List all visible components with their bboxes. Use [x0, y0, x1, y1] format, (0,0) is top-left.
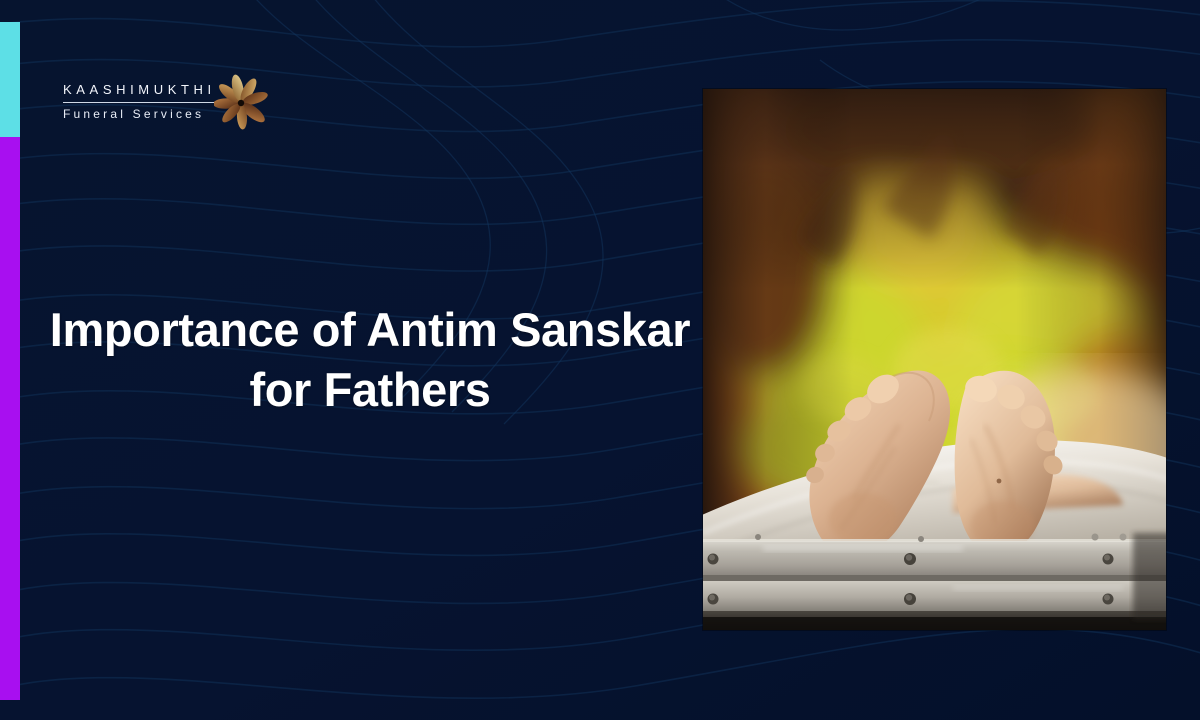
brand-tagline: Funeral Services — [63, 106, 216, 123]
banner: KAASHIMUKTHI Funeral Services — [0, 0, 1200, 720]
page-title-line-1: Importance of Antim Sanskar — [50, 303, 690, 356]
page-title-line-2: for Fathers — [40, 360, 700, 420]
accent-bar-cyan — [0, 22, 20, 137]
flower-petals-icon — [214, 72, 270, 134]
brand-divider — [63, 102, 216, 103]
brand-logo-text: KAASHIMUKTHI Funeral Services — [63, 81, 216, 123]
page-title: Importance of Antim Sanskar for Fathers — [40, 300, 700, 420]
brand-logo[interactable]: KAASHIMUKTHI Funeral Services — [63, 70, 270, 134]
hero-photo — [703, 89, 1166, 630]
brand-name: KAASHIMUKTHI — [63, 81, 216, 100]
accent-bar-magenta — [0, 137, 20, 700]
